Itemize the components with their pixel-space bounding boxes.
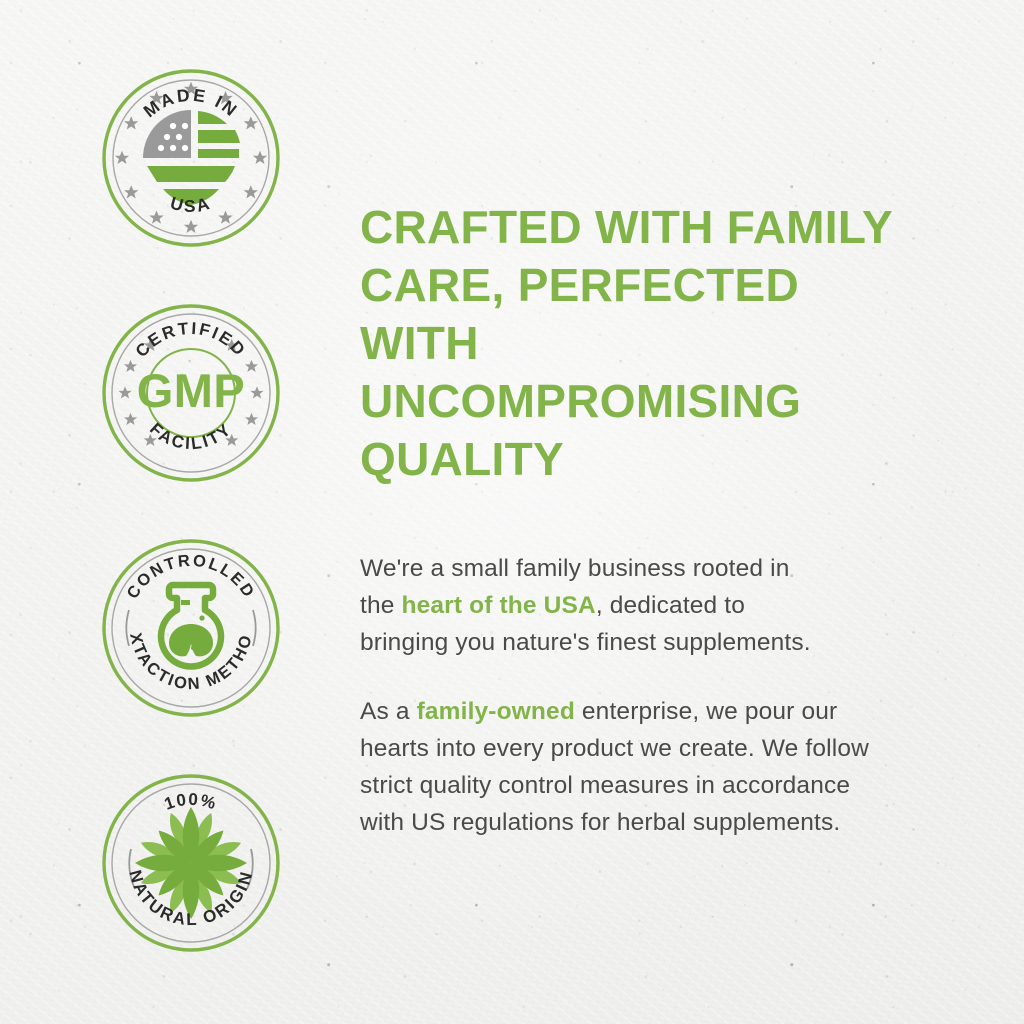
- badge-bottom-label: USA: [168, 193, 214, 216]
- body-paragraph-1: We're a small family business rooted in …: [360, 550, 830, 661]
- body-paragraph-2: As a family-owned enterprise, we pour ou…: [360, 693, 880, 841]
- promo-panel: MADE IN USA: [0, 0, 1024, 1024]
- badge-natural-origin: 100% NATURAL ORIGIN: [101, 773, 281, 953]
- badge-top-label: CONTROLLED: [124, 552, 259, 602]
- badge-controlled-extaction-method: CONTROLLED EXTACTION METHOD: [101, 538, 281, 718]
- usa-flag-circle-icon: [143, 110, 240, 205]
- body-text-run: As a: [360, 698, 417, 725]
- badge-bottom-label: FACILITY: [146, 419, 236, 453]
- highlighted-phrase: heart of the USA: [401, 592, 595, 619]
- badge-made-in-usa: MADE IN USA: [101, 68, 281, 248]
- trust-badge-column: MADE IN USA: [101, 68, 281, 1008]
- page-title: CRAFTED WITH FAMILY CARE, PERFECTED WITH…: [360, 198, 920, 488]
- gmp-seal-icon: GMP: [137, 364, 246, 417]
- badge-top-label: MADE IN: [140, 85, 243, 122]
- lab-flask-leaf-icon: [161, 585, 221, 667]
- highlighted-phrase: family-owned: [417, 698, 575, 725]
- badge-gmp-certified-facility: GMP CERTIFIED FACILITY: [101, 303, 281, 483]
- copy-column: CRAFTED WITH FAMILY CARE, PERFECTED WITH…: [360, 198, 920, 841]
